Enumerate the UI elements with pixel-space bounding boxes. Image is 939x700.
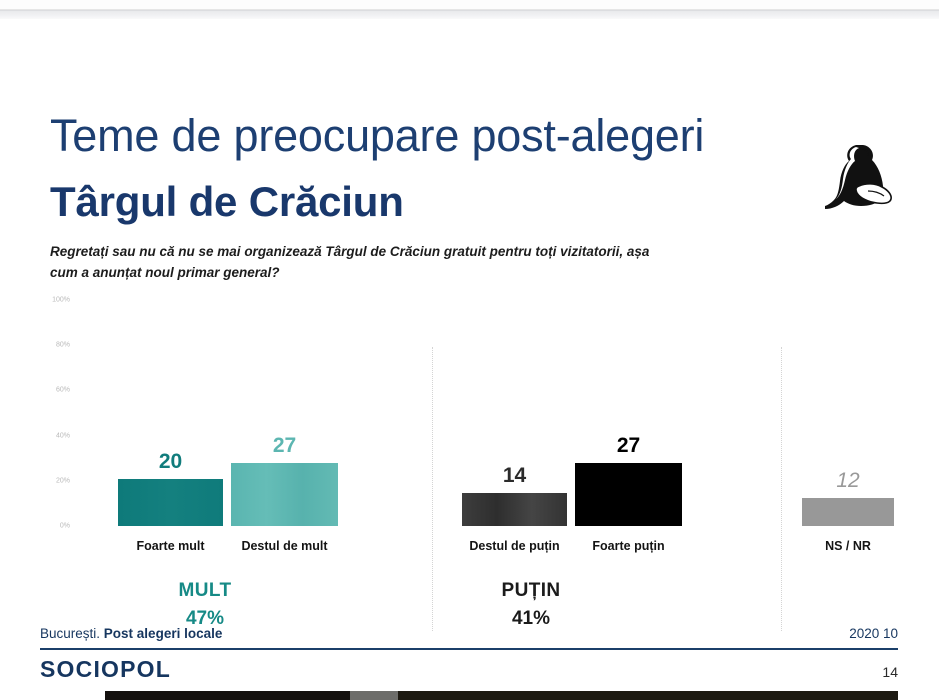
bar-ns-nr[interactable]: 12 NS / NR <box>802 498 894 526</box>
summary-putin-label: PUȚIN <box>476 580 586 602</box>
footer-study: Post alegeri locale <box>104 626 223 641</box>
bar-fill <box>575 463 682 526</box>
bar-foarte-putin[interactable]: 27 Foarte puțin <box>575 463 682 526</box>
penguin-illustration-icon <box>812 128 908 214</box>
bar-value-ns-nr: 12 <box>802 469 894 493</box>
filmstrip-bottom-edge <box>0 688 939 700</box>
y-axis-tick-20: 20% <box>44 478 70 485</box>
y-axis-tick-80: 80% <box>44 342 70 349</box>
window-top-strip-upper <box>0 0 939 10</box>
footer-divider-rule <box>40 648 898 650</box>
presentation-slide: Teme de preocupare post-alegeri Târgul d… <box>0 24 939 688</box>
y-axis-tick-60: 60% <box>44 387 70 394</box>
slide-footer: București. Post alegeri locale 2020 10 <box>40 626 898 641</box>
bar-value-destul-de-putin: 14 <box>462 464 567 488</box>
bar-label-ns-nr: NS / NR <box>776 539 920 553</box>
bar-chart: 100% 80% 60% 40% 20% 0% 20 Foarte mult 2… <box>44 292 904 582</box>
y-axis-tick-100: 100% <box>44 297 70 304</box>
window-top-strip-lower <box>0 10 939 19</box>
bar-destul-de-putin[interactable]: 14 Destul de puțin <box>462 493 567 526</box>
summary-mult-label: MULT <box>150 580 260 602</box>
bar-fill <box>118 479 223 526</box>
footer-source: București. Post alegeri locale <box>40 626 222 641</box>
bar-label-destul-de-mult: Destul de mult <box>205 539 364 553</box>
y-axis-tick-0: 0% <box>44 523 70 530</box>
bar-value-destul-de-mult: 27 <box>231 434 338 458</box>
slide-title-line-1: Teme de preocupare post-alegeri <box>50 110 704 162</box>
summary-mult: MULT 47% <box>150 580 260 630</box>
bar-destul-de-mult[interactable]: 27 Destul de mult <box>231 463 338 526</box>
footer-location: București. <box>40 626 100 641</box>
sociopol-logo: SOCIOPOL <box>40 656 171 683</box>
summary-putin: PUȚIN 41% <box>476 580 586 630</box>
slide-page-number: 14 <box>882 664 898 680</box>
plot-area: 20 Foarte mult 27 Destul de mult 14 Dest… <box>76 292 904 526</box>
bar-value-foarte-putin: 27 <box>575 434 682 458</box>
group-divider-left <box>432 347 433 631</box>
footer-date: 2020 10 <box>849 626 898 641</box>
bar-fill <box>231 463 338 526</box>
bar-fill <box>462 493 567 526</box>
bar-fill <box>802 498 894 526</box>
slide-title-line-2: Târgul de Crăciun <box>50 178 404 226</box>
bar-value-foarte-mult: 20 <box>118 450 223 474</box>
bar-foarte-mult[interactable]: 20 Foarte mult <box>118 479 223 526</box>
slide-question-subtitle: Regretați sau nu că nu se mai organizeaz… <box>50 242 670 284</box>
filmstrip-segment-3 <box>398 691 898 700</box>
screenshot-viewport: Teme de preocupare post-alegeri Târgul d… <box>0 0 939 700</box>
bar-label-foarte-putin: Foarte puțin <box>549 539 708 553</box>
group-divider-right <box>781 347 782 631</box>
filmstrip-segment-2 <box>350 691 398 700</box>
y-axis-tick-40: 40% <box>44 433 70 440</box>
filmstrip-segment-1 <box>105 691 350 700</box>
